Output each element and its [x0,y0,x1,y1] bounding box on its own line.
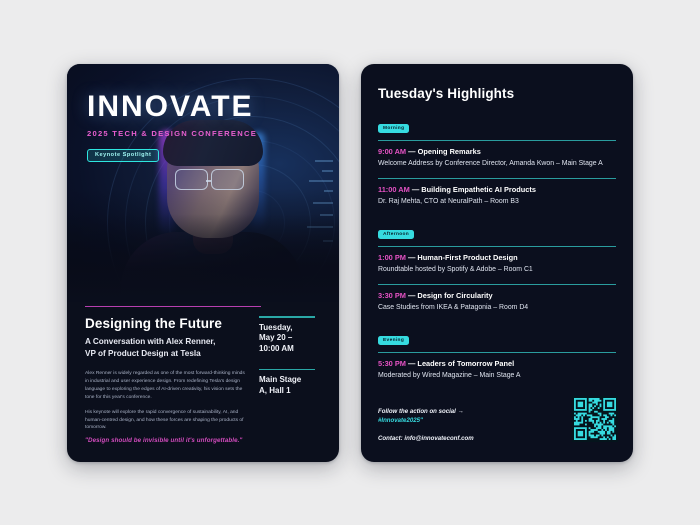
event-heading: 5:30 PM — Leaders of Tomorrow Panel [378,359,616,369]
event-description: Welcome Address by Conference Director, … [378,159,616,169]
event-description: Moderated by Wired Magazine – Main Stage… [378,371,616,381]
meta-date-block: Tuesday, May 20 – 10:00 AM [259,316,321,355]
segment-badge-afternoon: Afternoon [378,230,414,239]
event-name: — Leaders of Tomorrow Panel [406,359,514,368]
schedule-card: Tuesday's Highlights Morning9:00 AM — Op… [361,64,633,462]
keynote-details: Designing the Future A Conversation with… [67,292,339,462]
event-time: 11:00 AM [378,185,410,194]
event-time: 9:00 AM [378,147,406,156]
event-name: — Human-First Product Design [406,253,518,262]
schedule-event[interactable]: 1:00 PM — Human-First Product DesignRoun… [378,253,616,275]
event-divider [378,284,616,285]
schedule-segment: Afternoon1:00 PM — Human-First Product D… [378,222,616,313]
schedule-segment: Morning9:00 AM — Opening RemarksWelcome … [378,116,616,207]
qr-code[interactable] [572,396,618,442]
poster-stage: INNOVATE 2025 TECH & DESIGN CONFERENCE K… [0,0,700,525]
event-divider [378,178,616,179]
hero-image: INNOVATE 2025 TECH & DESIGN CONFERENCE K… [67,64,339,302]
event-description: Case Studies from IKEA & Patagonia – Roo… [378,303,616,313]
segment-divider [378,246,616,247]
meta-venue-block: Main Stage A, Hall 1 [259,369,321,397]
segment-badge-morning: Morning [378,124,409,133]
footer-hashtag: #Innovate2025" [378,416,562,425]
brand-title: INNOVATE [87,92,323,122]
event-description: Roundtable hosted by Spotify & Adobe – R… [378,265,616,275]
keynote-speaker-line: A Conversation with Alex Renner, VP of P… [85,336,249,359]
schedule-footer: Follow the action on social → #Innovate2… [378,396,618,442]
event-description: Dr. Raj Mehta, CTO at NeuralPath – Room … [378,197,616,207]
segment-badge-evening: Evening [378,336,409,345]
schedule-event[interactable]: 5:30 PM — Leaders of Tomorrow PanelModer… [378,359,616,381]
event-heading: 11:00 AM — Building Empathetic AI Produc… [378,185,616,195]
meta-date: Tuesday, May 20 – 10:00 AM [259,323,321,355]
footer-contact: Contact: info@innovateconf.com [378,435,562,442]
event-heading: 3:30 PM — Design for Circularity [378,291,616,301]
schedule-title: Tuesday's Highlights [378,86,616,101]
brand-subtitle: 2025 TECH & DESIGN CONFERENCE [87,129,323,138]
event-name: — Building Empathetic AI Products [410,185,536,194]
keynote-spotlight-badge: Keynote Spotlight [87,149,159,162]
event-time: 5:30 PM [378,359,406,368]
event-name: — Design for Circularity [406,291,493,300]
event-time: 3:30 PM [378,291,406,300]
segment-divider [378,352,616,353]
schedule-event[interactable]: 3:30 PM — Design for CircularityCase Stu… [378,284,616,313]
schedule-segments: Morning9:00 AM — Opening RemarksWelcome … [378,116,616,381]
keynote-paragraph-2: His keynote will explore the rapid conve… [85,409,249,433]
schedule-event[interactable]: 9:00 AM — Opening RemarksWelcome Address… [378,147,616,169]
footer-follow: Follow the action on social → [378,407,562,416]
schedule-segment: Evening5:30 PM — Leaders of Tomorrow Pan… [378,328,616,381]
meta-venue: Main Stage A, Hall 1 [259,375,321,396]
event-heading: 9:00 AM — Opening Remarks [378,147,616,157]
schedule-event[interactable]: 11:00 AM — Building Empathetic AI Produc… [378,178,616,207]
keynote-card: INNOVATE 2025 TECH & DESIGN CONFERENCE K… [67,64,339,462]
event-name: — Opening Remarks [406,147,481,156]
title-divider [85,306,261,308]
keynote-paragraph-1: Alex Renner is widely regarded as one of… [85,370,249,402]
meta-divider [259,369,315,371]
meta-divider [259,316,315,318]
keynote-title: Designing the Future [85,316,249,331]
event-time: 1:00 PM [378,253,406,262]
event-heading: 1:00 PM — Human-First Product Design [378,253,616,263]
segment-divider [378,140,616,141]
